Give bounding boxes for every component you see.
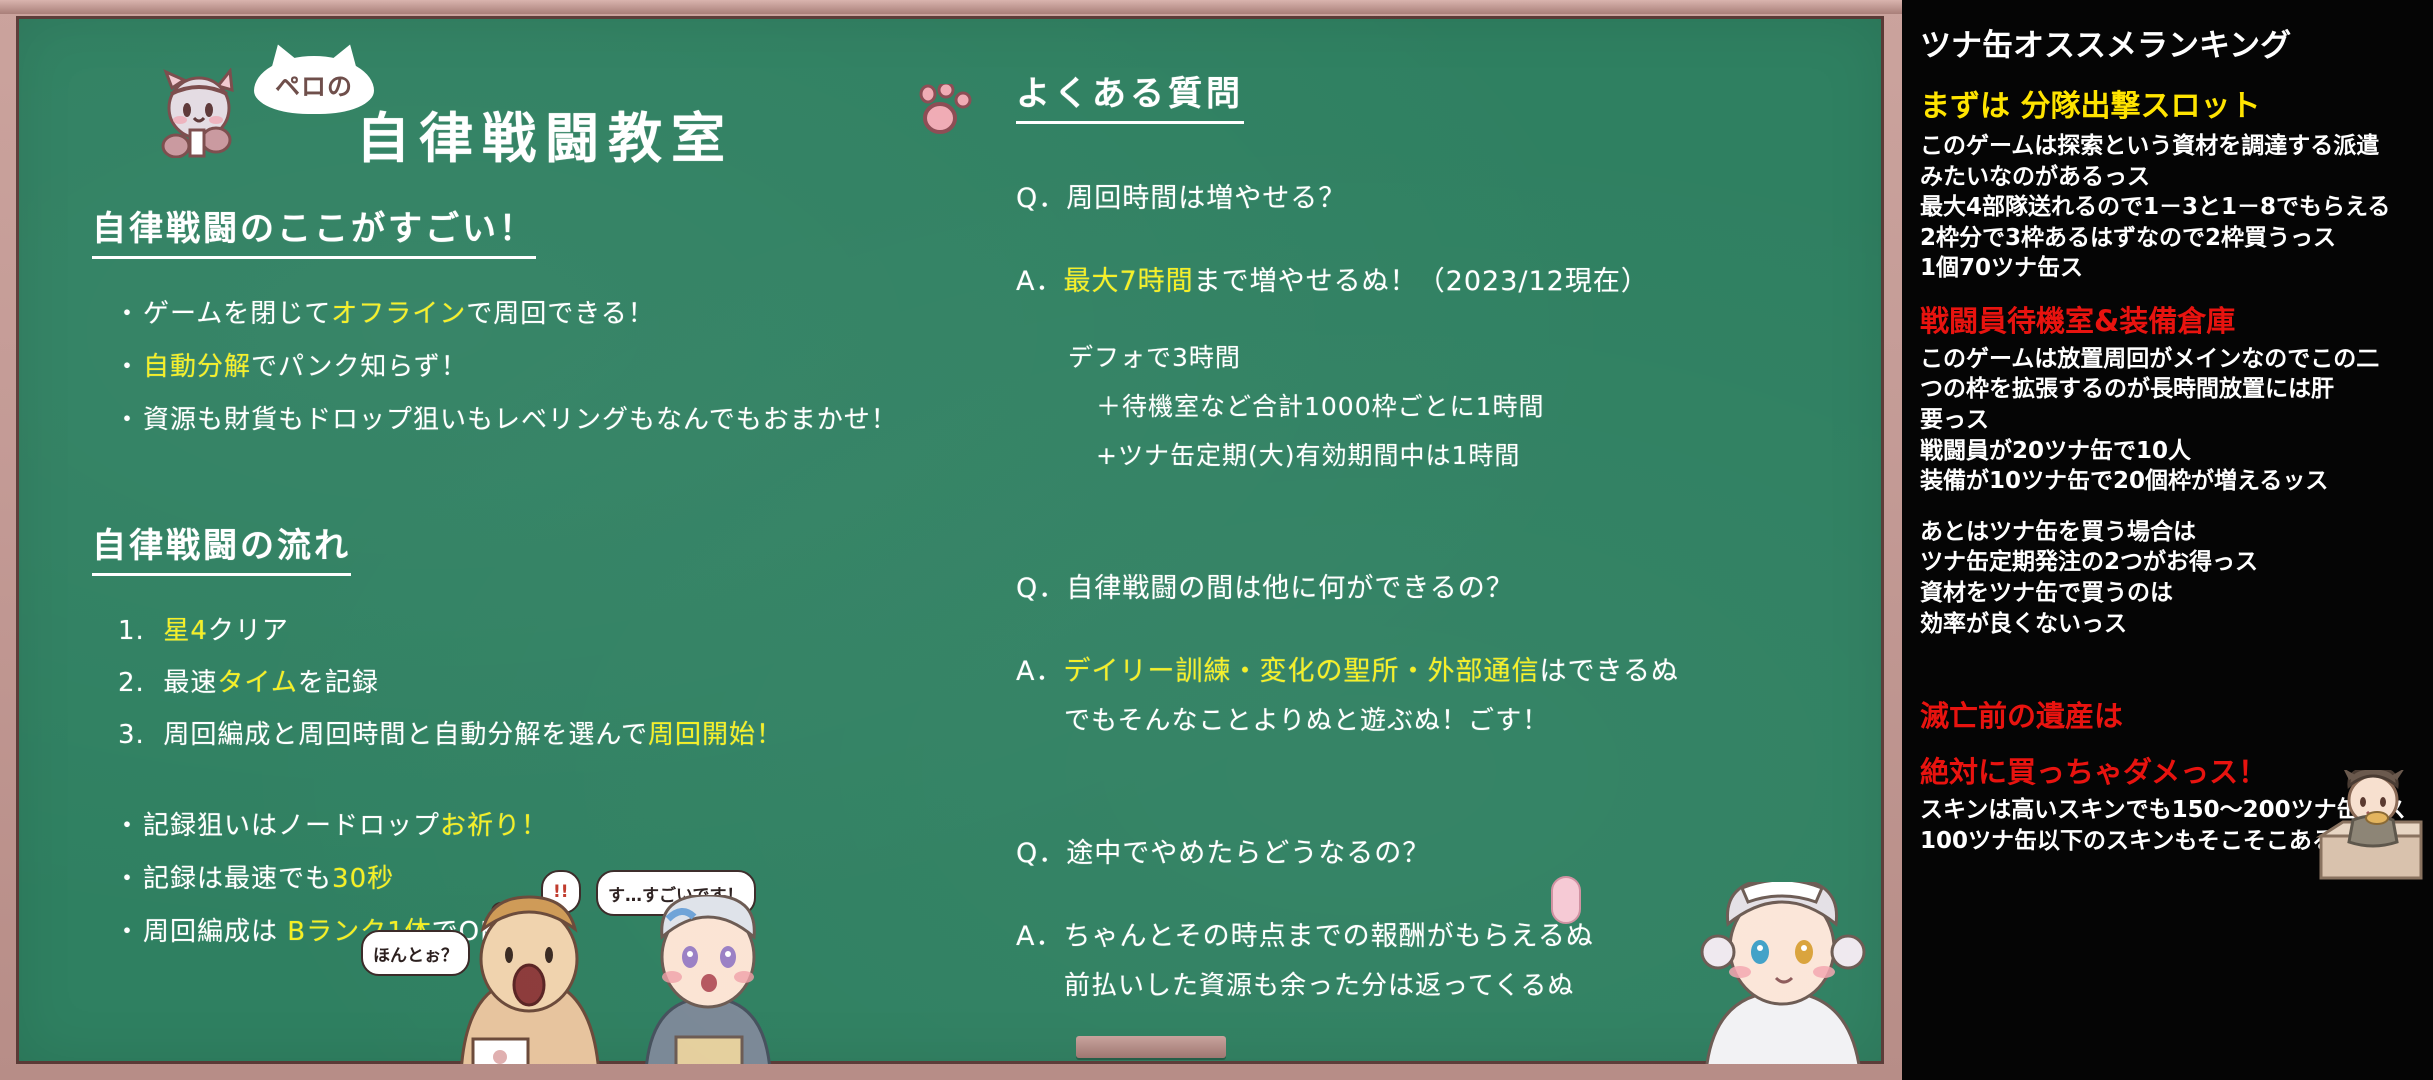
- spacer: [1920, 659, 2417, 679]
- faq-item: Q．自律戦闘の間は他に何ができるの？ A．デイリー訓練・変化の聖所・外部通信はで…: [1016, 566, 1876, 737]
- bullet-highlight: オフライン: [331, 299, 466, 329]
- note-highlight: 30秒: [332, 864, 394, 894]
- spacer: [1016, 761, 1876, 831]
- panel-line: 効率が良くないっス: [1920, 609, 2417, 640]
- section-heading-flow-text: 自律戦闘の流れ: [92, 518, 351, 576]
- note-pre: 記録狙いはノードロップ: [143, 811, 440, 841]
- faq-heading: よくある質問: [1016, 66, 1876, 124]
- panel-line: 戦闘員が20ツナ缶で10人: [1920, 436, 2417, 467]
- character-maid-icon: [1676, 882, 1884, 1064]
- step-pre: 最速: [163, 668, 217, 698]
- chalkboard-surface: ペロの 自律戦闘教室 自律戦闘のここがすごい！ ゲームを閉じてオフラインで周回で…: [16, 16, 1884, 1064]
- bullet-pre: ゲームを閉じて: [143, 299, 331, 329]
- character-shouting-icon: [421, 889, 636, 1064]
- panel-line: 要っス: [1920, 405, 2417, 436]
- note-pre: 記録は最速でも: [143, 864, 332, 894]
- section-heading-merits-text: 自律戦闘のここがすごい！: [92, 201, 536, 259]
- page-title: 自律戦闘教室: [356, 94, 734, 173]
- bullet-highlight: 自動分解: [143, 352, 251, 382]
- faq-detail-line: デフォで3時間: [1068, 338, 1876, 374]
- panel-section: あとはツナ缶を買う場合は ツナ缶定期発注の2つがお得っス 資材をツナ缶で買うのは…: [1920, 517, 2417, 639]
- tuna-ranking-panel: ツナ缶オススメランキング まずは 分隊出撃スロット このゲームは探索という資材を…: [1902, 0, 2433, 1080]
- list-item: 周回編成と周回時間と自動分解を選んで周回開始！: [118, 714, 812, 751]
- panel-line: あとはツナ缶を買う場合は: [1920, 517, 2417, 548]
- faq-heading-text: よくある質問: [1016, 66, 1244, 124]
- faq-question: Q．周回時間は増やせる？: [1016, 176, 1876, 215]
- list-item: 記録狙いはノードロップお祈り！: [114, 805, 812, 842]
- step-pre: 周回編成と周回時間と自動分解を選んで: [163, 720, 648, 750]
- faq-answer-label: A．: [1016, 266, 1063, 297]
- spacer: [1920, 497, 2417, 517]
- faq-detail-block: デフォで3時間 ＋待機室など合計1000枠ごとに1時間 +ツナ缶定期(大)有効期…: [1068, 338, 1876, 472]
- section-heading-merits: 自律戦闘のここがすごい！: [92, 201, 812, 259]
- chalk-tray: [1076, 1036, 1226, 1058]
- step-highlight: 星4: [163, 616, 208, 646]
- screenshot-root: ペロの 自律戦闘教室 自律戦闘のここがすごい！ ゲームを閉じてオフラインで周回で…: [0, 0, 2433, 1080]
- faq-answer: A．最大7時間まで増やせるぬ！（2023/12現在）: [1016, 259, 1876, 298]
- step-highlight: タイム: [217, 668, 297, 698]
- list-item: ゲームを閉じてオフラインで周回できる！: [114, 293, 812, 330]
- character-girl-icon: [616, 895, 801, 1064]
- faq-answer-highlight: デイリー訓練・変化の聖所・外部通信: [1063, 656, 1539, 687]
- panel-section-heading: 滅亡前の遺産は: [1920, 693, 2417, 735]
- panel-section-heading: まずは 分隊出撃スロット: [1920, 81, 2417, 125]
- chalkboard-frame: ペロの 自律戦闘教室 自律戦闘のここがすごい！ ゲームを閉じてオフラインで周回で…: [0, 0, 1902, 1080]
- faq-answer-highlight: 最大7時間: [1063, 266, 1193, 297]
- section-heading-flow: 自律戦闘の流れ: [92, 518, 812, 576]
- pero-label: ペロの: [275, 67, 353, 103]
- bullet-post: でパンク知らず！: [251, 352, 468, 382]
- panel-line: ツナ缶定期発注の2つがお得っス: [1920, 547, 2417, 578]
- faq-answer-label: A．: [1016, 656, 1063, 687]
- merits-list: ゲームを閉じてオフラインで周回できる！ 自動分解でパンク知らず！ 資源も財貨もド…: [114, 293, 812, 436]
- faq-item: Q．周回時間は増やせる？ A．最大7時間まで増やせるぬ！（2023/12現在） …: [1016, 176, 1876, 472]
- cat-mascot-icon: [154, 68, 246, 158]
- faq-answer-rest: まで増やせるぬ！（2023/12現在）: [1194, 266, 1649, 297]
- faq-question: Q．途中でやめたらどうなるの？: [1016, 831, 1876, 870]
- faq-answer-rest: はできるぬ: [1539, 656, 1678, 687]
- panel-line: みたいなのがあるっス: [1920, 162, 2417, 193]
- left-column: 自律戦闘のここがすごい！ ゲームを閉じてオフラインで周回できる！ 自動分解でパン…: [92, 201, 812, 964]
- list-item: 資源も財貨もドロップ狙いもレベリングもなんでもおまかせ！: [114, 399, 812, 436]
- faq-question: Q．自律戦闘の間は他に何ができるの？: [1016, 566, 1876, 605]
- paw-print-icon: [916, 84, 974, 136]
- panel-title: ツナ缶オススメランキング: [1920, 20, 2417, 65]
- step-highlight: 周回開始！: [648, 720, 783, 750]
- step-post: クリア: [208, 616, 289, 646]
- list-item: 自動分解でパンク知らず！: [114, 346, 812, 383]
- step-post: を記録: [298, 668, 379, 698]
- bullet-pre: 資源も財貨もドロップ狙いもレベリングもなんでもおまかせ！: [143, 405, 898, 435]
- panel-line: このゲームは探索という資材を調達する派遣: [1920, 131, 2417, 162]
- faq-answer-subline: でもそんなことよりぬと遊ぶぬ！ごす！: [1064, 700, 1876, 737]
- speech-bubble-maid: [1551, 876, 1581, 924]
- faq-answer-label: A．: [1016, 921, 1063, 952]
- spacer: [1016, 496, 1876, 566]
- panel-line: 資材をツナ缶で買うのは: [1920, 578, 2417, 609]
- panel-line: つの枠を拡張するのが長時間放置には肝: [1920, 374, 2417, 405]
- panel-section-heading: 戦闘員待機室&装備倉庫: [1920, 298, 2417, 340]
- note-highlight: お祈り！: [440, 811, 548, 841]
- panel-line: 2枠分で3枠あるはずなので2枠買うっス: [1920, 223, 2417, 254]
- panel-line: 最大4部隊送れるので1－3と1－8でもらえる: [1920, 192, 2417, 223]
- faq-answer: A．デイリー訓練・変化の聖所・外部通信はできるぬ でもそんなことよりぬと遊ぶぬ！…: [1016, 649, 1876, 737]
- sitting-character-icon: [2315, 770, 2427, 886]
- flow-steps-list: 星4クリア 最速タイムを記録 周回編成と周回時間と自動分解を選んで周回開始！: [118, 610, 812, 751]
- panel-line: 装備が10ツナ缶で20個枠が増えるッス: [1920, 466, 2417, 497]
- faq-detail-line: ＋待機室など合計1000枠ごとに1時間: [1096, 387, 1876, 423]
- board-header: ペロの 自律戦闘教室: [146, 46, 906, 156]
- panel-line: このゲームは放置周回がメインなのでこの二: [1920, 344, 2417, 375]
- bullet-post: で周回できる！: [466, 299, 654, 329]
- note-pre: 周回編成は: [143, 917, 287, 947]
- faq-answer-rest: ちゃんとその時点までの報酬がもらえるぬ: [1063, 921, 1593, 952]
- panel-line: 1個70ツナ缶ス: [1920, 253, 2417, 284]
- panel-section: まずは 分隊出撃スロット このゲームは探索という資材を調達する派遣 みたいなのが…: [1920, 81, 2417, 284]
- faq-detail-line: +ツナ缶定期(大)有効期間中は1時間: [1096, 436, 1876, 472]
- spacer: [1920, 639, 2417, 659]
- list-item: 星4クリア: [118, 610, 812, 647]
- panel-section: 戦闘員待機室&装備倉庫 このゲームは放置周回がメインなのでこの二 つの枠を拡張す…: [1920, 298, 2417, 497]
- list-item: 最速タイムを記録: [118, 662, 812, 699]
